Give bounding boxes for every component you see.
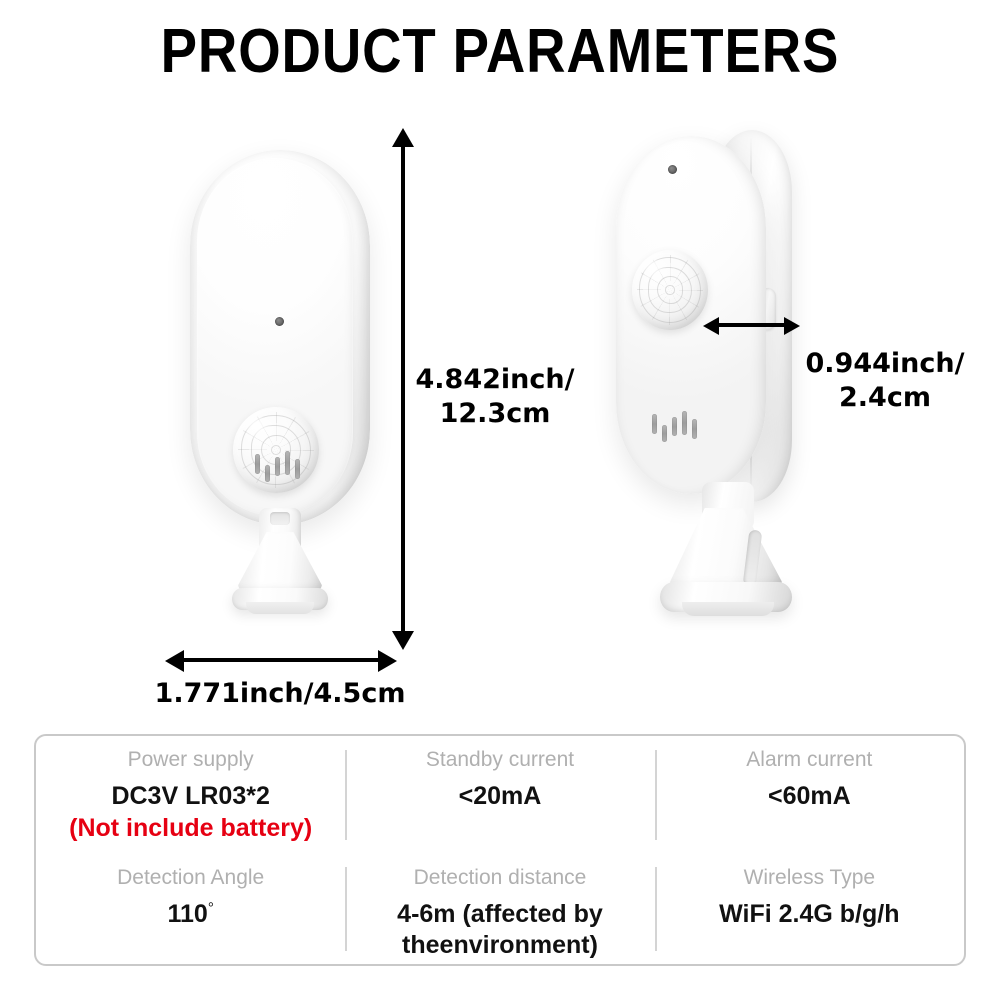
product-figure-area: 4.842inch/12.3cm 1.771inch/4.5cm 0.944in…	[0, 110, 1000, 720]
spec-cell-power-supply: Power supply DC3V LR03*2 (Not include ba…	[36, 736, 345, 854]
spec-row: Power supply DC3V LR03*2 (Not include ba…	[36, 736, 964, 854]
spec-cell-standby-current: Standby current <20mA	[345, 736, 654, 854]
spec-value: WiFi 2.4G b/g/h	[719, 899, 899, 929]
pir-highlight	[245, 417, 274, 439]
arrow-right-icon	[378, 650, 397, 672]
led-indicator-icon	[668, 165, 677, 174]
spec-value: <20mA	[459, 781, 542, 811]
spec-value-number: 110	[167, 900, 207, 928]
speaker-grille-icon	[652, 410, 697, 444]
spec-cell-detection-distance: Detection distance 4-6m (affected bythee…	[345, 854, 654, 964]
dimension-line-vertical	[401, 145, 405, 632]
spec-label: Detection Angle	[117, 865, 264, 891]
mount-plate-lip	[682, 602, 774, 616]
dimension-width-label: 1.771inch/4.5cm	[130, 677, 430, 711]
dimension-line-horizontal	[181, 658, 381, 662]
mount-base-side	[660, 482, 792, 624]
arrow-right-icon	[784, 317, 800, 335]
mount-flare	[238, 532, 322, 594]
mount-base-front	[232, 508, 328, 616]
spec-row: Detection Angle 110° Detection distance …	[36, 854, 964, 964]
dimension-height-inch: 4.842inch/	[416, 364, 575, 395]
spec-table: Power supply DC3V LR03*2 (Not include ba…	[34, 734, 966, 966]
dimension-height-cm: 12.3cm	[440, 398, 551, 429]
pir-lens-icon	[632, 250, 708, 330]
arrow-down-icon	[392, 631, 414, 650]
led-indicator-icon	[275, 317, 284, 326]
spec-value-line2: theenvironment)	[402, 931, 598, 959]
spec-cell-wireless-type: Wireless Type WiFi 2.4G b/g/h	[655, 854, 964, 964]
dimension-depth-label: 0.944inch/2.4cm	[795, 347, 975, 415]
dimension-line-horizontal	[717, 323, 787, 327]
speaker-grille-icon	[255, 450, 300, 484]
degree-symbol: °	[208, 900, 214, 917]
spec-label: Alarm current	[746, 747, 872, 773]
dimension-depth-inch: 0.944inch/	[806, 348, 965, 379]
spec-label: Power supply	[128, 747, 254, 773]
dimension-height-label: 4.842inch/12.3cm	[415, 363, 575, 431]
page-title: PRODUCT PARAMETERS	[60, 16, 940, 87]
dimension-depth-cm: 2.4cm	[839, 382, 931, 413]
spec-value-line1: 4-6m (affected by	[397, 900, 603, 928]
spec-label: Detection distance	[414, 865, 587, 891]
spec-note: (Not include battery)	[69, 813, 312, 844]
spec-cell-detection-angle: Detection Angle 110°	[36, 854, 345, 964]
pir-ring	[665, 285, 674, 295]
spec-value: <60mA	[768, 781, 851, 811]
spec-value: DC3V LR03*2	[111, 781, 269, 811]
mount-notch	[270, 512, 290, 525]
spec-label: Standby current	[426, 747, 574, 773]
mount-flare	[670, 508, 782, 592]
spec-label: Wireless Type	[744, 865, 876, 891]
spec-value: 110°	[167, 899, 213, 929]
mount-plate-lip	[246, 602, 314, 614]
spec-cell-alarm-current: Alarm current <60mA	[655, 736, 964, 854]
product-parameters-page: PRODUCT PARAMETERS	[0, 0, 1000, 1000]
spec-value: 4-6m (affected bytheenvironment)	[397, 899, 603, 960]
